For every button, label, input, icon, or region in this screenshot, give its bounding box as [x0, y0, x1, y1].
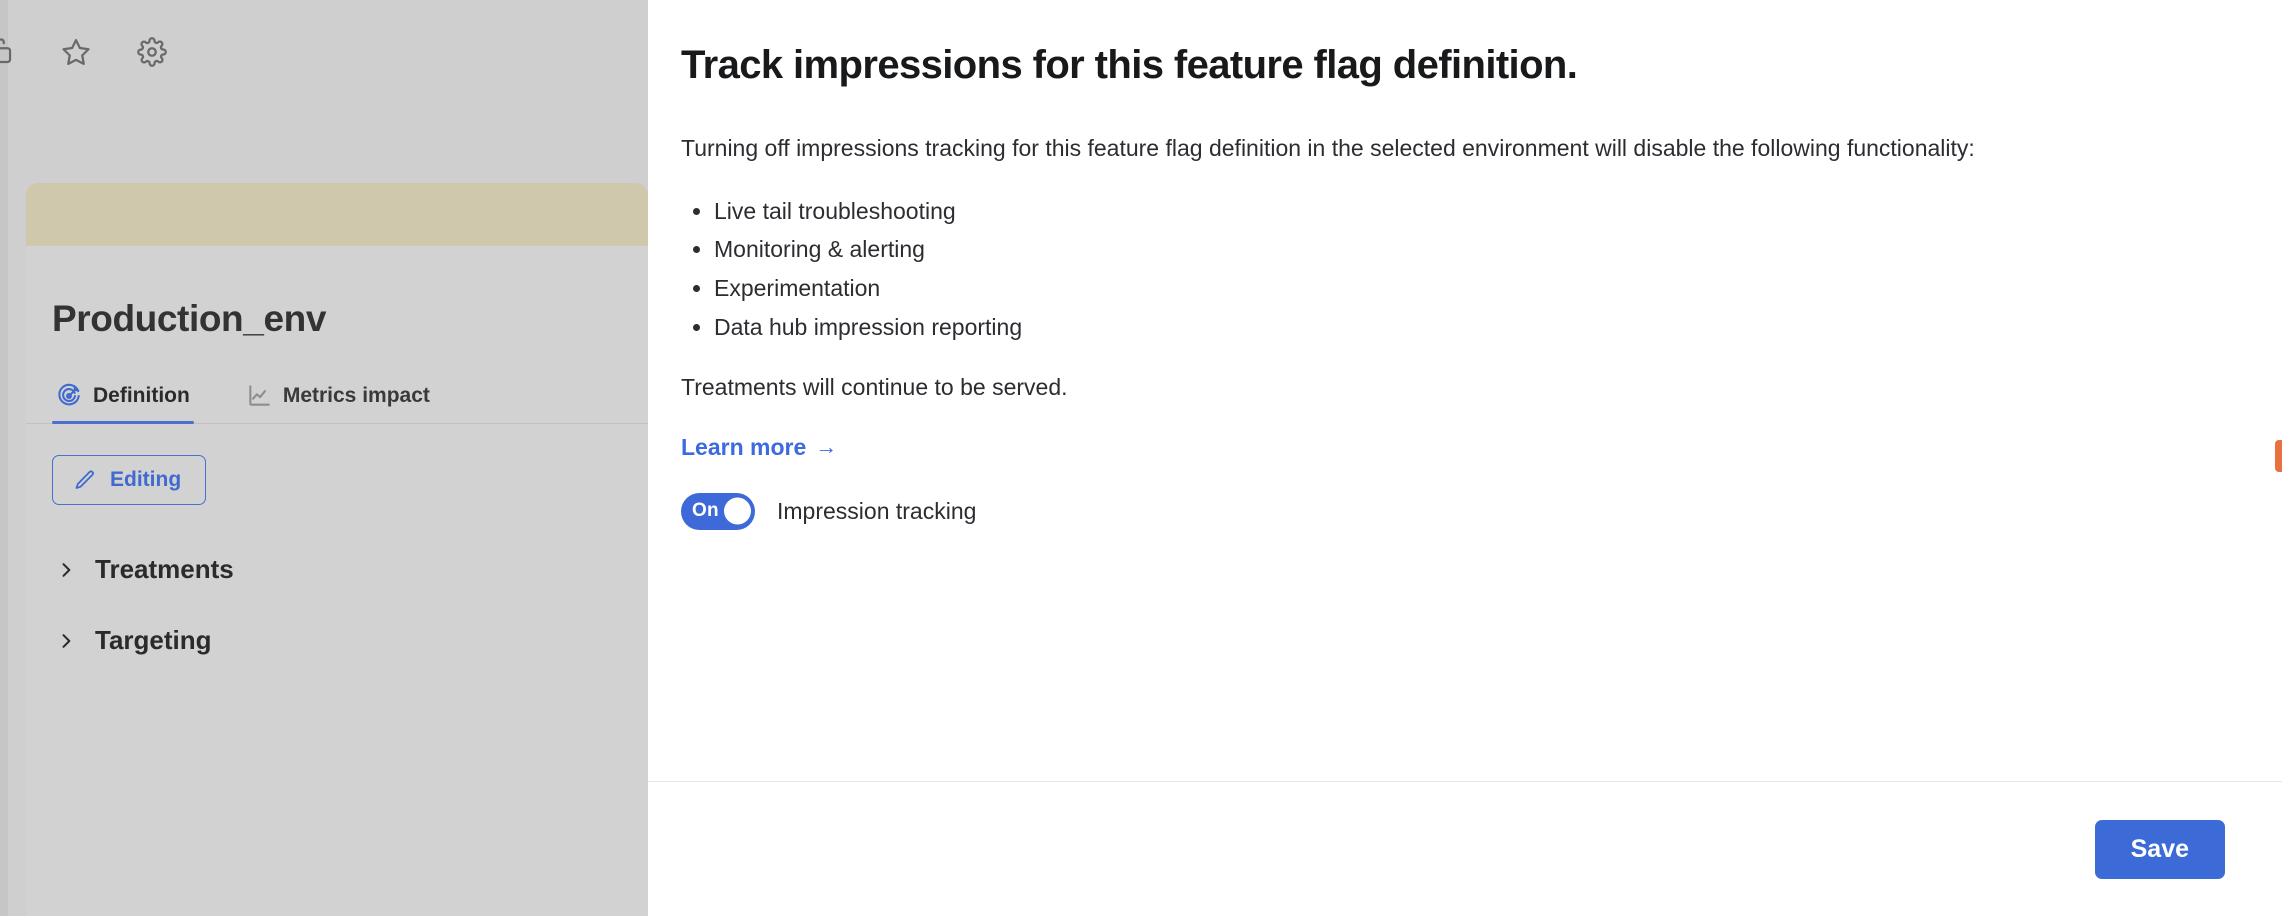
modal-title: Track impressions for this feature flag …: [681, 40, 2226, 90]
edge-marker-indicator[interactable]: [2275, 440, 2282, 472]
list-item: Live tail troubleshooting: [714, 196, 2226, 227]
arrow-right-icon: →: [815, 436, 837, 458]
impression-tracking-label: Impression tracking: [777, 498, 976, 525]
impression-tracking-toggle[interactable]: On: [681, 493, 755, 530]
environment-card: Production_env Definition: [26, 183, 648, 916]
pencil-icon: [73, 468, 97, 492]
disabled-functionality-list: Live tail troubleshooting Monitoring & a…: [681, 196, 2226, 343]
tab-bar: Definition Metrics impact: [26, 383, 648, 424]
toggle-state-label: On: [692, 500, 719, 522]
impressions-modal: Track impressions for this feature flag …: [648, 0, 2282, 916]
impression-tracking-row: On Impression tracking: [681, 493, 2226, 530]
line-chart-icon: [246, 383, 272, 409]
editing-button-label: Editing: [110, 468, 181, 492]
window-left-edge: [0, 0, 8, 916]
star-icon[interactable]: [54, 30, 98, 74]
section-treatments-label: Treatments: [95, 554, 234, 585]
app-root: Production_env Definition: [0, 0, 2282, 916]
list-item: Monitoring & alerting: [714, 234, 2226, 265]
chevron-right-icon: [56, 560, 76, 580]
modal-body: Track impressions for this feature flag …: [648, 0, 2282, 781]
save-button[interactable]: Save: [2095, 820, 2225, 879]
editing-button[interactable]: Editing: [52, 455, 206, 505]
list-item: Data hub impression reporting: [714, 312, 2226, 343]
card-top-band: [26, 183, 648, 246]
page-title: Production_env: [52, 298, 648, 340]
modal-description: Turning off impressions tracking for thi…: [681, 131, 2226, 167]
tab-metrics-impact[interactable]: Metrics impact: [242, 383, 434, 423]
tab-definition-label: Definition: [93, 384, 190, 408]
section-targeting[interactable]: Targeting: [56, 625, 648, 656]
learn-more-label: Learn more: [681, 434, 806, 461]
modal-footer: Save: [648, 781, 2282, 916]
tab-definition[interactable]: Definition: [52, 383, 194, 423]
list-item: Experimentation: [714, 273, 2226, 304]
section-targeting-label: Targeting: [95, 625, 212, 656]
copy-icon[interactable]: [0, 30, 22, 74]
learn-more-link[interactable]: Learn more →: [681, 434, 837, 461]
background-page: Production_env Definition: [0, 0, 648, 916]
section-treatments[interactable]: Treatments: [56, 554, 648, 585]
toggle-knob: [724, 498, 751, 525]
tab-metrics-impact-label: Metrics impact: [283, 384, 430, 408]
modal-note: Treatments will continue to be served.: [681, 374, 2226, 401]
target-icon: [56, 383, 82, 409]
toolbar-icons: [0, 30, 174, 74]
chevron-right-icon: [56, 631, 76, 651]
gear-icon[interactable]: [130, 30, 174, 74]
